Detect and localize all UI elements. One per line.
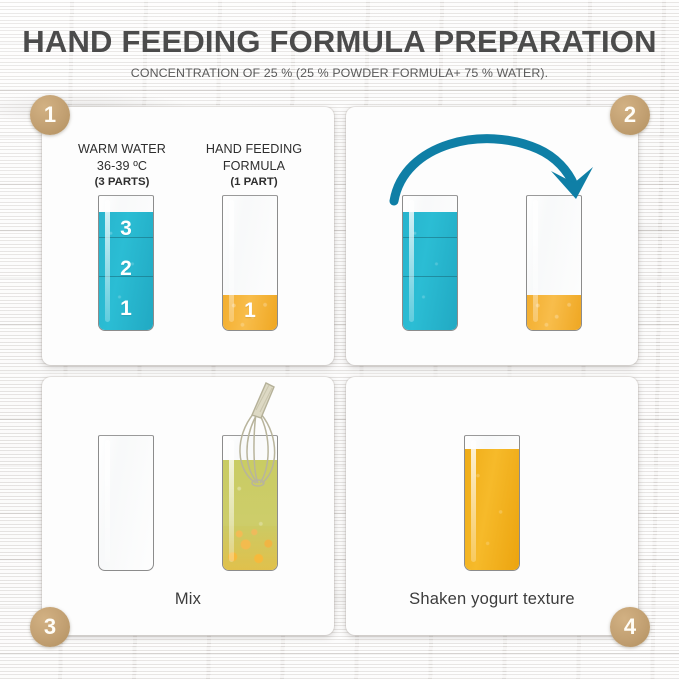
step-panel-1[interactable]: 1 WARM WATER 36-39 ºC (3 PARTS) HAND FEE… <box>42 107 334 365</box>
empty-glass <box>98 435 154 571</box>
panel-3-caption: Mix <box>42 590 334 609</box>
formula-powder-glass: 1 <box>222 195 278 331</box>
formula-powder-glass <box>526 195 582 331</box>
glass-body <box>98 435 154 571</box>
warm-water-label-line1: WARM WATER <box>63 141 181 158</box>
warm-water-fill <box>403 212 457 330</box>
panel-4-glasses <box>346 435 638 571</box>
glass-shine <box>105 440 110 562</box>
water-divider-2 <box>403 237 457 238</box>
step-panel-4[interactable]: 4 Shaken yogurt texture <box>346 377 638 635</box>
header: HAND FEEDING FORMULA PREPARATION CONCENT… <box>0 26 679 80</box>
final-mixture-fill <box>465 449 519 570</box>
panel-4-caption: Shaken yogurt texture <box>346 590 638 609</box>
glass-body: 1 <box>222 195 278 331</box>
glass-body <box>464 435 520 571</box>
panel-1-labels: WARM WATER 36-39 ºC (3 PARTS) HAND FEEDI… <box>42 141 334 188</box>
page-title: HAND FEEDING FORMULA PREPARATION <box>0 26 679 59</box>
formula-label: HAND FEEDING FORMULA (1 PART) <box>195 141 313 188</box>
final-mixture-glass <box>464 435 520 571</box>
warm-water-glass <box>402 195 458 331</box>
panel-2-glasses <box>346 195 638 331</box>
warm-water-label-line2: 36-39 ºC <box>63 158 181 175</box>
panel-3-glasses <box>42 435 334 571</box>
step-number-badge-3: 3 <box>30 607 70 647</box>
warm-water-parts: (3 PARTS) <box>63 176 181 188</box>
water-part-2: 2 <box>99 257 153 281</box>
warm-water-label: WARM WATER 36-39 ºC (3 PARTS) <box>63 141 181 188</box>
glass-body <box>526 195 582 331</box>
glass-body <box>402 195 458 331</box>
step-number-badge-2: 2 <box>610 95 650 135</box>
formula-label-line2: FORMULA <box>195 158 313 175</box>
water-divider-1 <box>403 276 457 277</box>
step-panel-3[interactable]: 3 <box>42 377 334 635</box>
panel-1-glasses: 1 2 3 1 <box>42 195 334 331</box>
formula-parts: (1 PART) <box>195 176 313 188</box>
step-number-badge-4: 4 <box>610 607 650 647</box>
warm-water-glass: 1 2 3 <box>98 195 154 331</box>
steps-grid: 1 WARM WATER 36-39 ºC (3 PARTS) HAND FEE… <box>42 107 638 635</box>
formula-powder-fill <box>527 295 581 330</box>
pour-arrow-icon <box>388 121 598 207</box>
step-number-badge-1: 1 <box>30 95 70 135</box>
glass-body: 1 2 3 <box>98 195 154 331</box>
step-panel-2[interactable]: 2 <box>346 107 638 365</box>
water-part-1: 1 <box>99 297 153 321</box>
water-part-3: 3 <box>99 217 153 241</box>
formula-part-1: 1 <box>223 299 277 323</box>
glass-body <box>222 435 278 571</box>
powder-sediment <box>223 526 277 570</box>
formula-label-line1: HAND FEEDING <box>195 141 313 158</box>
mixing-glass <box>222 435 278 571</box>
page-subtitle: CONCENTRATION OF 25 % (25 % POWDER FORMU… <box>0 66 679 80</box>
